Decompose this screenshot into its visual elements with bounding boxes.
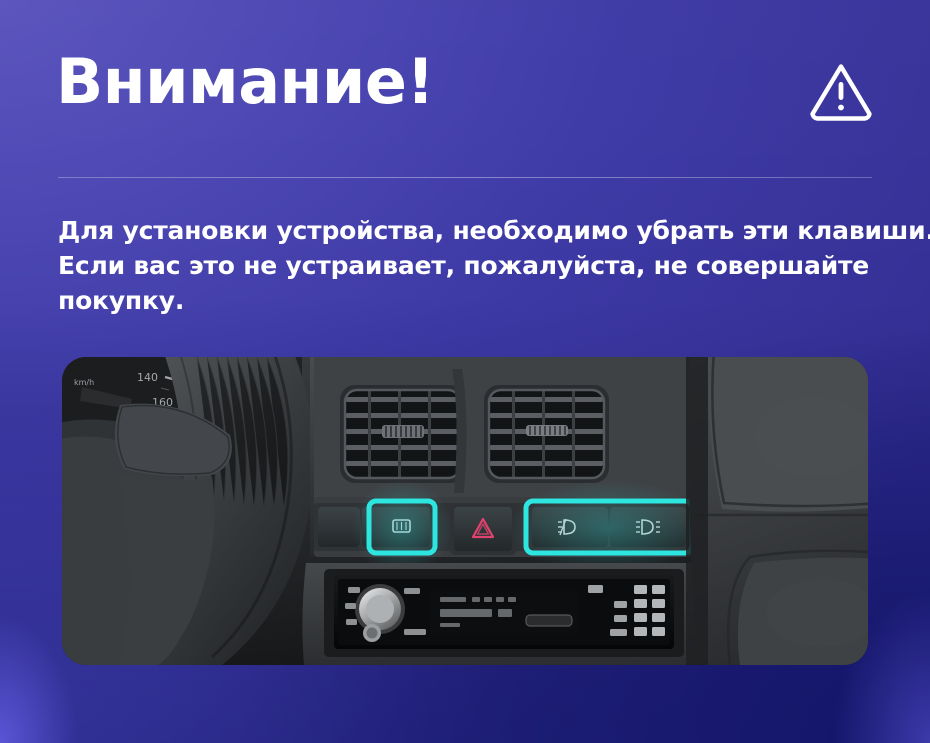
air-vent-right [484, 385, 609, 483]
warning-message: Для установки устройства, необходимо убр… [58, 213, 878, 318]
svg-text:140: 140 [137, 371, 158, 384]
warning-message-line-3: покупку. [58, 283, 878, 318]
right-dash-panel [689, 357, 868, 665]
warning-message-line-1: Для установки устройства, необходимо убр… [58, 213, 878, 248]
header-divider [58, 177, 872, 178]
vent-adjuster-knob [382, 425, 424, 438]
warning-triangle-icon [808, 60, 874, 122]
air-vent-left [340, 385, 465, 483]
vent-adjuster-knob [526, 425, 568, 436]
warning-banner: Внимание! Для установки устройства, необ… [0, 0, 930, 743]
svg-text:km/h: km/h [74, 378, 94, 387]
page-title: Внимание! [56, 51, 434, 113]
car-stereo-head-unit [334, 575, 674, 649]
hazard-warning-button [450, 503, 516, 555]
car-dashboard-photo: 140 160 180 200 km/h [62, 357, 868, 665]
warning-message-line-2: Если вас это не устраивает, пожалуйста, … [58, 248, 878, 283]
